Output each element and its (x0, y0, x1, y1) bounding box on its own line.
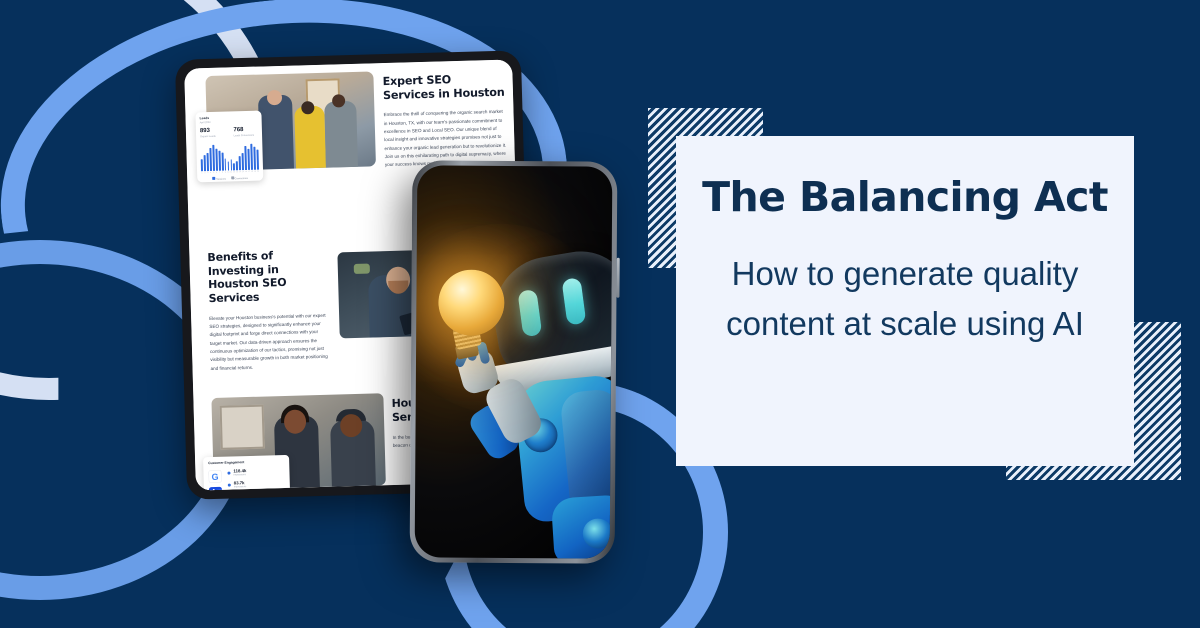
chart-tick-label: 18 (251, 170, 253, 172)
robot-holding-lightbulb-illustration (415, 165, 613, 558)
poster-canvas: Leads April 2023 893 Organic Leads 768 L… (0, 0, 1200, 628)
engagement-metrics: 118.4k Impressions 83.7k Impressions (227, 467, 285, 490)
chart-bar (209, 148, 211, 170)
chart-tick-label: 10 (227, 171, 229, 173)
chart-bar (215, 149, 217, 171)
legend-swatch-icon (213, 176, 216, 179)
google-logo-icon: G (208, 470, 221, 483)
phone-screen[interactable] (415, 165, 613, 558)
page-subtitle: How to generate quality content at scale… (710, 249, 1100, 349)
chart-kpi-row: 893 Organic Leads 768 Leads Conversions (200, 126, 258, 138)
legend-item-sessions: Sessions (213, 176, 226, 180)
chart-bar (227, 162, 229, 170)
chart-bar (230, 160, 232, 170)
section2-body: Elevate your Houston business's potentia… (209, 311, 331, 373)
bullet-dot-icon (227, 471, 230, 474)
kpi-label: Leads Conversions (234, 133, 255, 137)
chart-tick-label: 3 (207, 172, 209, 174)
chart-tick-label: 11 (230, 171, 232, 173)
section2-heading: Benefits of Investing in Houston SEO Ser… (207, 248, 328, 306)
article-section-1: Expert SEO Services in Houston Embrace t… (382, 72, 507, 170)
metric-label: Impressions (234, 486, 246, 488)
legend-label: Sessions (216, 177, 226, 180)
chart-bar (206, 153, 208, 171)
legend-label: Conversions (235, 176, 248, 179)
chart-bars (200, 139, 259, 171)
chart-bar (218, 151, 220, 170)
chart-bar (257, 149, 259, 169)
chart-tick-label: 16 (245, 170, 247, 172)
chart-tick-label: 9 (224, 171, 226, 173)
chart-bar (239, 156, 241, 169)
chart-tick-label: 1 (201, 172, 203, 174)
chart-bar (221, 153, 223, 170)
chart-tick-label: 12 (233, 171, 235, 173)
engagement-title: Customer Engagement (208, 459, 284, 465)
chart-tick-label: 2 (204, 172, 206, 174)
metric-label: Impressions (234, 474, 247, 476)
engagement-logos: G b (208, 469, 222, 491)
phone-device (410, 160, 618, 563)
chart-tick-label: 6 (216, 171, 218, 173)
article-section-2: Benefits of Investing in Houston SEO Ser… (207, 248, 330, 373)
chart-x-axis: 1234567891011121314151617181920 (201, 170, 259, 174)
chart-bar (233, 163, 235, 170)
chart-legend: Sessions Conversions (201, 175, 259, 181)
chart-tick-label: 13 (236, 171, 238, 173)
engagement-metric-google: 118.4k Impressions (227, 468, 284, 477)
kpi-label: Organic Leads (200, 134, 216, 137)
chart-tick-label: 5 (213, 171, 215, 173)
chart-bar (212, 145, 215, 171)
chart-bar (204, 155, 206, 171)
chart-bar (224, 158, 226, 170)
chart-bar (254, 146, 256, 169)
chart-tick-label: 19 (254, 170, 256, 172)
bullet-dot-icon (228, 483, 231, 486)
customer-engagement-widget[interactable]: Customer Engagement G b 118.4k Impres (203, 455, 291, 491)
chart-tick-label: 7 (219, 171, 221, 173)
legend-item-conversions: Conversions (231, 175, 248, 179)
chart-kpi-conversions: 768 Leads Conversions (233, 126, 254, 137)
robot-joint (583, 518, 613, 548)
metric-value: 118.4k (233, 469, 246, 474)
chart-bar (201, 159, 203, 170)
chart-tick-label: 8 (222, 171, 224, 173)
kpi-value: 893 (200, 127, 216, 133)
chart-bar (236, 161, 238, 170)
chart-tick-label: 20 (257, 170, 259, 172)
engagement-metric-bing: 83.7k Impressions (228, 480, 285, 489)
chart-bar (242, 153, 244, 170)
phone-power-button[interactable] (616, 258, 619, 298)
lightbulb-glass (438, 269, 504, 335)
chart-tick-label: 4 (210, 171, 212, 173)
kpi-value: 768 (233, 126, 254, 133)
chart-tick-label: 17 (248, 170, 250, 172)
chart-tick-label: 14 (239, 171, 241, 173)
chart-kpi-organic: 893 Organic Leads (200, 127, 216, 137)
leads-chart-widget[interactable]: Leads April 2023 893 Organic Leads 768 L… (195, 111, 263, 183)
chart-tick-label: 15 (242, 171, 244, 173)
page-title: The Balancing Act (702, 176, 1108, 219)
section1-heading: Expert SEO Services in Houston (382, 72, 505, 103)
engagement-rows: G b 118.4k Impressions (208, 467, 285, 490)
headline-card: The Balancing Act How to generate qualit… (676, 136, 1134, 466)
